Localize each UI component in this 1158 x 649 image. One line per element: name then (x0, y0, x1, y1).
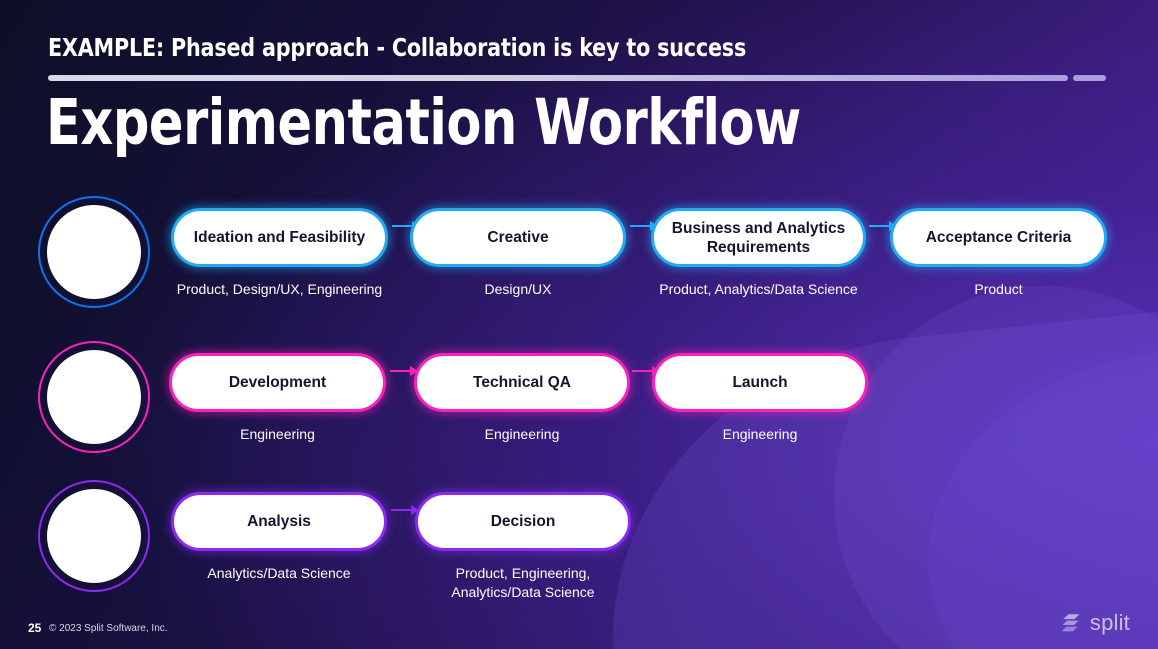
arrow-shaft (390, 370, 410, 372)
phase-badge-disc: Phase 3 (47, 489, 141, 583)
background-circle-decoration (834, 286, 1158, 649)
step-card-title: Acceptance Criteria (914, 228, 1084, 247)
step-card-business-and-analytics-requirements[interactable]: Business and Analytics Requirements (651, 208, 866, 267)
step-card-title: Analysis (235, 512, 323, 531)
arrow-shaft (632, 370, 652, 372)
step-card-title: Development (217, 373, 338, 392)
page-title: Experimentation Workflow (46, 88, 801, 158)
step-card-title: Decision (479, 512, 568, 531)
step-card-development[interactable]: Development (169, 353, 386, 412)
step-card-title: Launch (720, 373, 799, 392)
arrow-shaft (392, 225, 412, 227)
connector-arrow-3-1 (391, 506, 419, 514)
step-owners-decision: Product, Engineering, Analytics/Data Sci… (415, 564, 631, 602)
copyright-text: © 2023 Split Software, Inc. (49, 623, 168, 634)
phase-badge-2: Phase 2 (38, 341, 150, 453)
split-logo-wordmark: split (1090, 612, 1130, 634)
slide-eyebrow: EXAMPLE: Phased approach - Collaboration… (48, 33, 746, 62)
phase-number: 1 (90, 252, 99, 277)
step-card-title: Business and Analytics Requirements (654, 219, 863, 257)
split-logo-mark-icon (1059, 611, 1083, 635)
connector-arrow-2-1 (390, 367, 418, 375)
step-card-creative[interactable]: Creative (410, 208, 626, 267)
phase-badge-1: Phase 1 (38, 196, 150, 308)
phase-badge-3: Phase 3 (38, 480, 150, 592)
step-owners-business-and-analytics-requirements: Product, Analytics/Data Science (651, 280, 866, 299)
step-owners-ideation-and-feasibility: Product, Design/UX, Engineering (171, 280, 388, 299)
arrow-shaft (869, 225, 889, 227)
step-owners-analysis: Analytics/Data Science (171, 564, 387, 583)
phase-label: Phase (70, 511, 117, 536)
step-card-ideation-and-feasibility[interactable]: Ideation and Feasibility (171, 208, 388, 267)
phase-label: Phase (70, 372, 117, 397)
phase-number: 2 (90, 397, 99, 422)
header-divider-long (48, 75, 1068, 81)
step-owners-creative: Design/UX (410, 280, 626, 299)
header-divider-short (1073, 75, 1106, 81)
phase-number: 3 (90, 536, 99, 561)
background-blob-decoration (583, 299, 1158, 649)
step-card-title: Technical QA (461, 373, 583, 392)
slide-canvas: EXAMPLE: Phased approach - Collaboration… (0, 0, 1158, 649)
step-card-acceptance-criteria[interactable]: Acceptance Criteria (890, 208, 1107, 267)
step-card-technical-qa[interactable]: Technical QA (414, 353, 630, 412)
step-card-title: Ideation and Feasibility (182, 228, 377, 247)
page-number: 25 (28, 621, 41, 635)
step-owners-launch: Engineering (652, 425, 868, 444)
arrow-shaft (630, 225, 650, 227)
step-owners-acceptance-criteria: Product (890, 280, 1107, 299)
step-owners-development: Engineering (169, 425, 386, 444)
phase-label: Phase (70, 227, 117, 252)
step-card-title: Creative (475, 228, 560, 247)
step-owners-technical-qa: Engineering (414, 425, 630, 444)
split-logo: split (1059, 611, 1130, 635)
step-card-launch[interactable]: Launch (652, 353, 868, 412)
step-card-analysis[interactable]: Analysis (171, 492, 387, 551)
phase-badge-disc: Phase 2 (47, 350, 141, 444)
step-card-decision[interactable]: Decision (415, 492, 631, 551)
arrow-shaft (391, 509, 411, 511)
background-blob-secondary-decoration (928, 349, 1158, 649)
phase-badge-disc: Phase 1 (47, 205, 141, 299)
